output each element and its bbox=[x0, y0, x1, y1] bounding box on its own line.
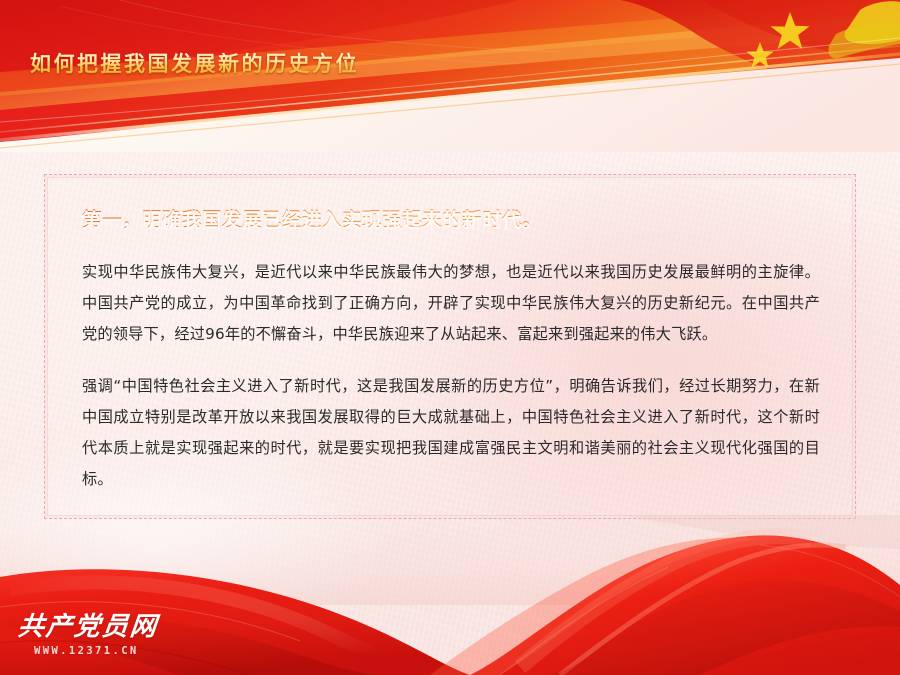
logo-wordmark: 共产党员网 bbox=[17, 614, 170, 640]
poster-canvas: 如何把握我国发展新的历史方位 第一，明确我国发展已经进入实现强起来的新时代。 实… bbox=[0, 0, 900, 675]
footer-ribbon: 共产党员网 WWW.12371.CN bbox=[0, 515, 900, 675]
banner-title: 如何把握我国发展新的历史方位 bbox=[30, 48, 359, 78]
logo-url: WWW.12371.CN bbox=[34, 645, 168, 657]
section-heading: 第一，明确我国发展已经进入实现强起来的新时代。 bbox=[82, 206, 820, 233]
header-banner: 如何把握我国发展新的历史方位 bbox=[0, 0, 900, 152]
site-logo: 共产党员网 WWW.12371.CN bbox=[18, 614, 168, 657]
body-paragraph-2: 强调“中国特色社会主义进入了新时代，这是我国发展新的历史方位”，明确告诉我们，经… bbox=[82, 371, 820, 494]
body-paragraph-1: 实现中华民族伟大复兴，是近代以来中华民族最伟大的梦想，也是近代以来我国历史发展最… bbox=[82, 257, 820, 349]
content-panel: 第一，明确我国发展已经进入实现强起来的新时代。 实现中华民族伟大复兴，是近代以来… bbox=[44, 174, 856, 519]
